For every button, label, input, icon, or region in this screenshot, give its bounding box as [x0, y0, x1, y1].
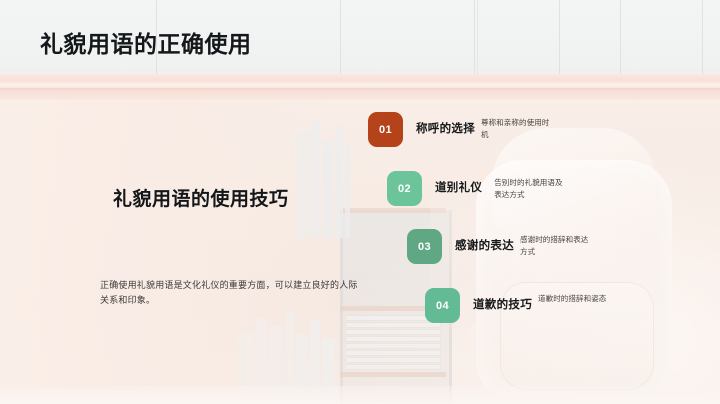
- step-item-4[interactable]: 04 道歉的技巧 道歉时的措辞和姿态: [425, 288, 612, 323]
- step-number-badge: 04: [425, 288, 460, 323]
- step-description: 告别时的礼貌用语及表达方式: [494, 177, 568, 201]
- step-item-3[interactable]: 03 感谢的表达 感谢时的措辞和表达方式: [407, 229, 594, 264]
- step-description: 尊称和亲称的使用时机: [481, 117, 555, 141]
- step-text-group: 感谢的表达 感谢时的措辞和表达方式: [442, 229, 594, 258]
- step-text-group: 道歉的技巧 道歉时的措辞和姿态: [460, 288, 612, 312]
- step-description: 感谢时的措辞和表达方式: [520, 234, 594, 258]
- step-title: 感谢的表达: [455, 237, 514, 253]
- step-title: 称呼的选择: [416, 120, 475, 136]
- step-title: 道别礼仪: [435, 179, 482, 195]
- step-number-badge: 02: [387, 171, 422, 206]
- step-title: 道歉的技巧: [473, 296, 532, 312]
- step-number-badge: 03: [407, 229, 442, 264]
- step-item-2[interactable]: 02 道别礼仪 告别时的礼貌用语及表达方式: [387, 171, 568, 206]
- slide: 礼貌用语的正确使用 礼貌用语的使用技巧 正确使用礼貌用语是文化礼仪的重要方面，可…: [0, 0, 720, 404]
- step-description: 道歉时的措辞和姿态: [538, 293, 612, 305]
- step-text-group: 称呼的选择 尊称和亲称的使用时机: [403, 112, 555, 141]
- steps-list: 01 称呼的选择 尊称和亲称的使用时机 02 道别礼仪 告别时的礼貌用语及表达方…: [0, 0, 720, 404]
- step-number-badge: 01: [368, 112, 403, 147]
- step-text-group: 道别礼仪 告别时的礼貌用语及表达方式: [422, 171, 568, 201]
- step-item-1[interactable]: 01 称呼的选择 尊称和亲称的使用时机: [368, 112, 555, 147]
